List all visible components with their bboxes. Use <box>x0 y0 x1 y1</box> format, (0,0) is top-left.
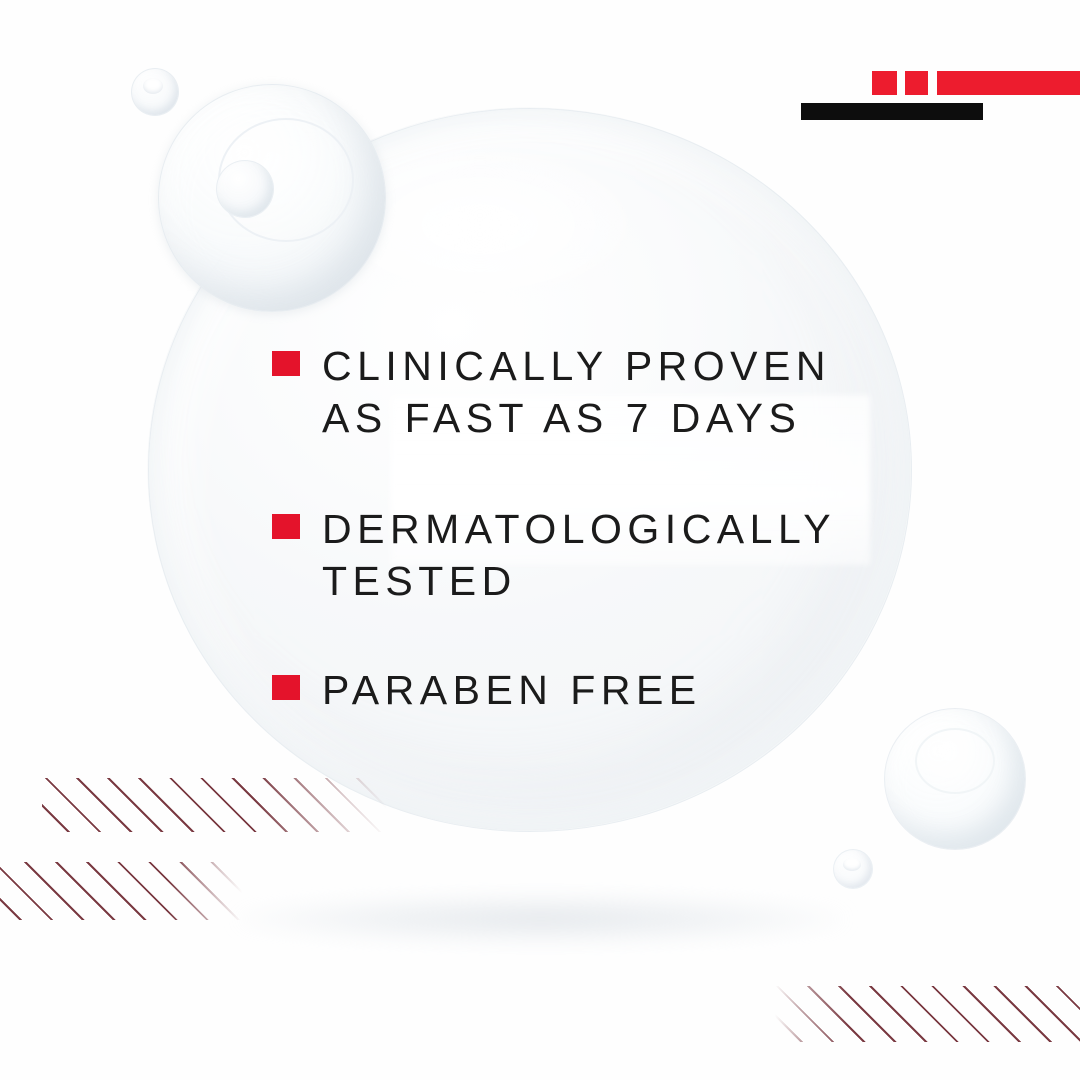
diagonal-stripes-left-lower <box>0 862 242 920</box>
benefits-list: CLINICALLY PROVEN AS FAST AS 7 DAYS DERM… <box>272 340 872 716</box>
medium-bubble-core <box>216 160 274 218</box>
benefit-item: CLINICALLY PROVEN AS FAST AS 7 DAYS <box>272 340 872 445</box>
red-square-bullet-icon <box>272 514 300 539</box>
red-square-bullet-icon <box>272 675 300 700</box>
product-claims-banner: CLINICALLY PROVEN AS FAST AS 7 DAYS DERM… <box>0 0 1080 1080</box>
black-bar-shape <box>801 103 983 120</box>
diagonal-stripes-bottom-right <box>775 986 1080 1042</box>
red-square-bullet-icon <box>272 351 300 376</box>
benefit-text: DERMATOLOGICALLY TESTED <box>322 503 872 608</box>
benefit-text: CLINICALLY PROVEN AS FAST AS 7 DAYS <box>322 340 872 445</box>
bubble-drop-shadow <box>236 896 846 942</box>
red-bar-shape <box>937 71 1080 95</box>
tiny-bubble-bottom-right-core <box>843 858 861 871</box>
top-right-decoration <box>0 0 1080 140</box>
benefit-text: PARABEN FREE <box>322 664 872 716</box>
small-bubble-bottom-right-ring <box>915 728 995 794</box>
diagonal-stripes-left-upper <box>42 778 387 832</box>
red-square-icon <box>872 71 897 95</box>
large-bubble-highlight <box>330 150 630 300</box>
benefit-item: PARABEN FREE <box>272 664 872 716</box>
red-square-icon <box>905 71 928 95</box>
benefit-item: DERMATOLOGICALLY TESTED <box>272 503 872 608</box>
